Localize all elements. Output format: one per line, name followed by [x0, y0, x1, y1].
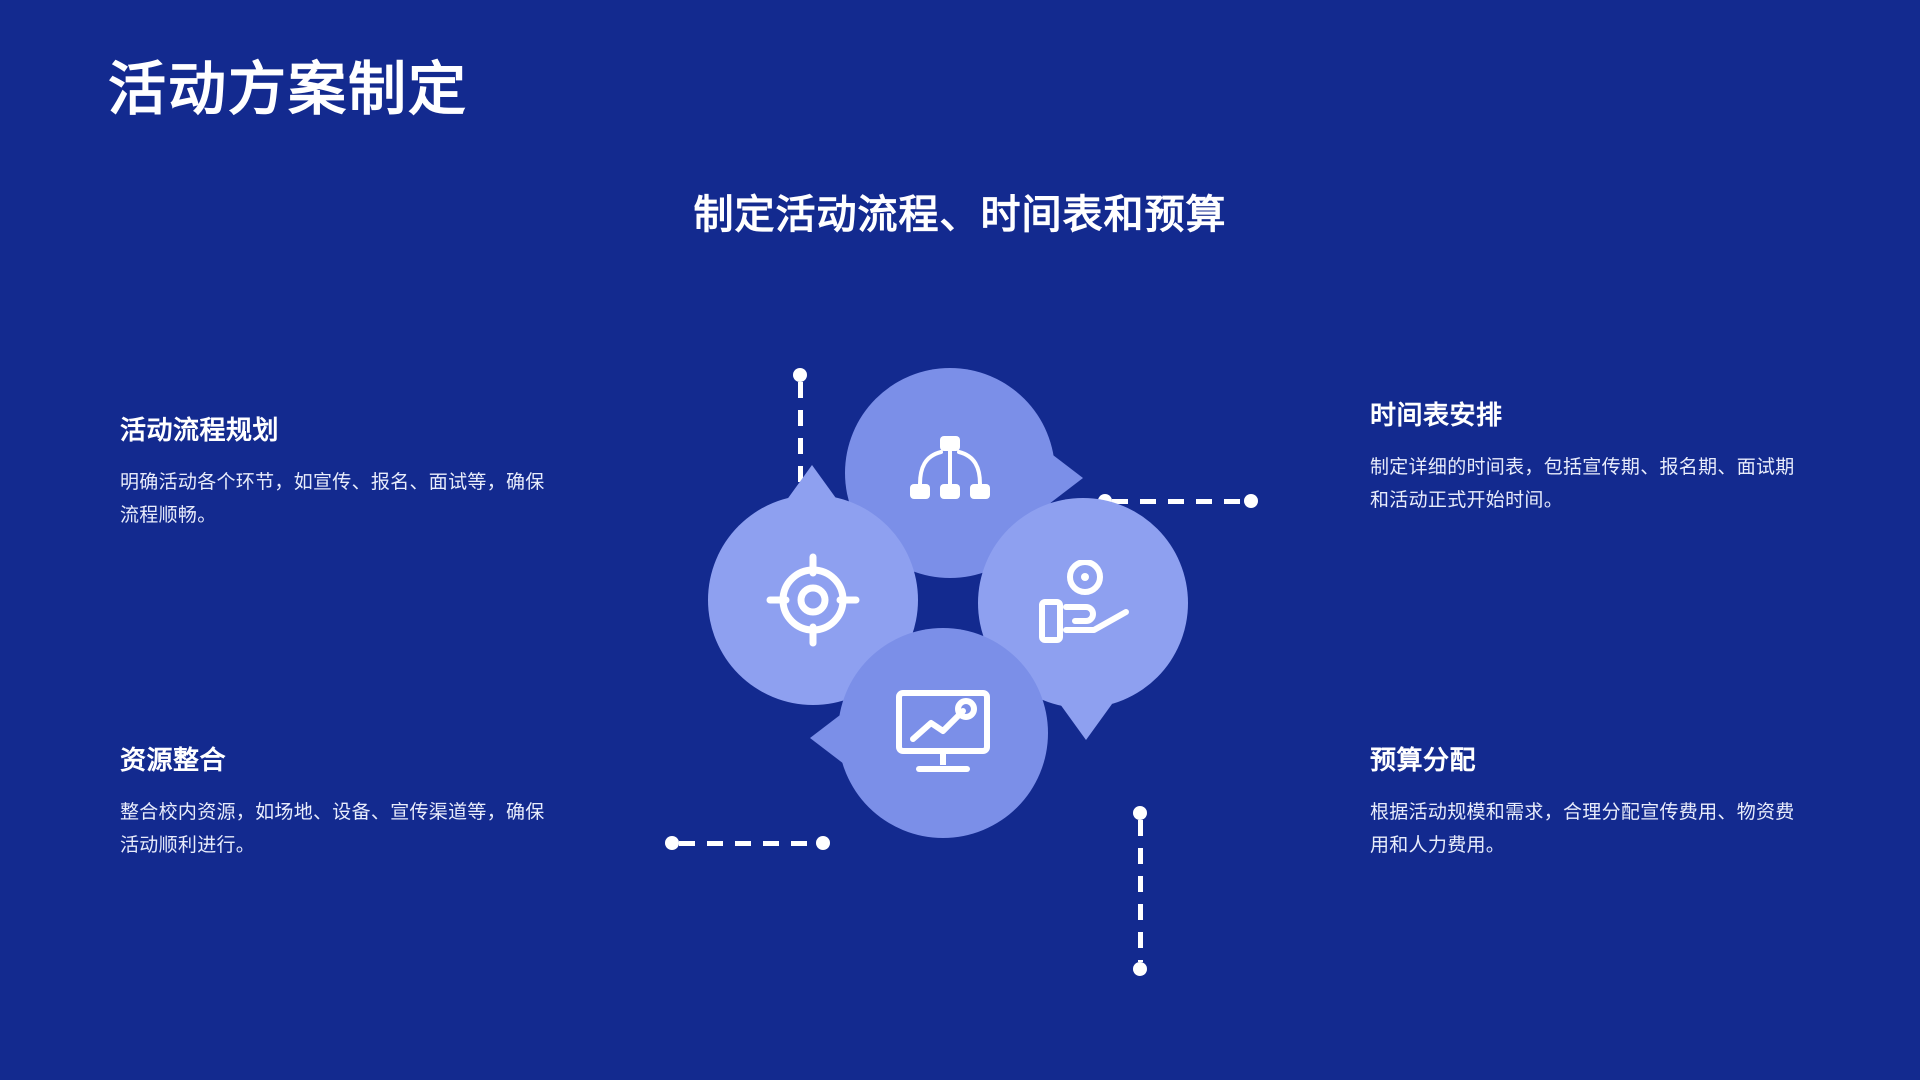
- bubble-tail: [1049, 452, 1083, 504]
- feature-title: 预算分配: [1370, 745, 1800, 776]
- bubble-tail: [1060, 704, 1112, 740]
- feature-block-resource-integration: 资源整合 整合校内资源，如场地、设备、宣传渠道等，确保活动顺利进行。: [120, 745, 550, 863]
- feature-title: 活动流程规划: [120, 415, 550, 446]
- feature-description: 明确活动各个环节，如宣传、报名、面试等，确保流程顺畅。: [120, 466, 550, 533]
- bubble-tail: [786, 465, 838, 501]
- feature-title: 资源整合: [120, 745, 550, 776]
- feature-description: 制定详细的时间表，包括宣传期、报名期、面试期和活动正式开始时间。: [1370, 451, 1800, 518]
- feature-description: 整合校内资源，如场地、设备、宣传渠道等，确保活动顺利进行。: [120, 796, 550, 863]
- feature-block-schedule: 时间表安排 制定详细的时间表，包括宣传期、报名期、面试期和活动正式开始时间。: [1370, 400, 1800, 518]
- page-title: 活动方案制定: [108, 58, 468, 122]
- hierarchy-icon: [907, 434, 993, 512]
- feature-title: 时间表安排: [1370, 400, 1800, 431]
- bubble-budget-allocation[interactable]: [838, 628, 1048, 838]
- feature-description: 根据活动规模和需求，合理分配宣传费用、物资费用和人力费用。: [1370, 796, 1800, 863]
- bubble-tail: [810, 712, 844, 764]
- page-subtitle: 制定活动流程、时间表和预算: [0, 182, 1920, 240]
- feature-block-process-planning: 活动流程规划 明确活动各个环节，如宣传、报名、面试等，确保流程顺畅。: [120, 415, 550, 533]
- monitor-chart-icon: [893, 687, 993, 779]
- center-graphic: [640, 350, 1260, 990]
- hand-coin-icon: [1034, 560, 1132, 646]
- feature-block-budget-allocation: 预算分配 根据活动规模和需求，合理分配宣传费用、物资费用和人力费用。: [1370, 745, 1800, 863]
- slide-root: 活动方案制定 制定活动流程、时间表和预算 活动流程规划 明确活动各个环节，如宣传…: [0, 0, 1920, 1080]
- target-icon: [766, 553, 860, 647]
